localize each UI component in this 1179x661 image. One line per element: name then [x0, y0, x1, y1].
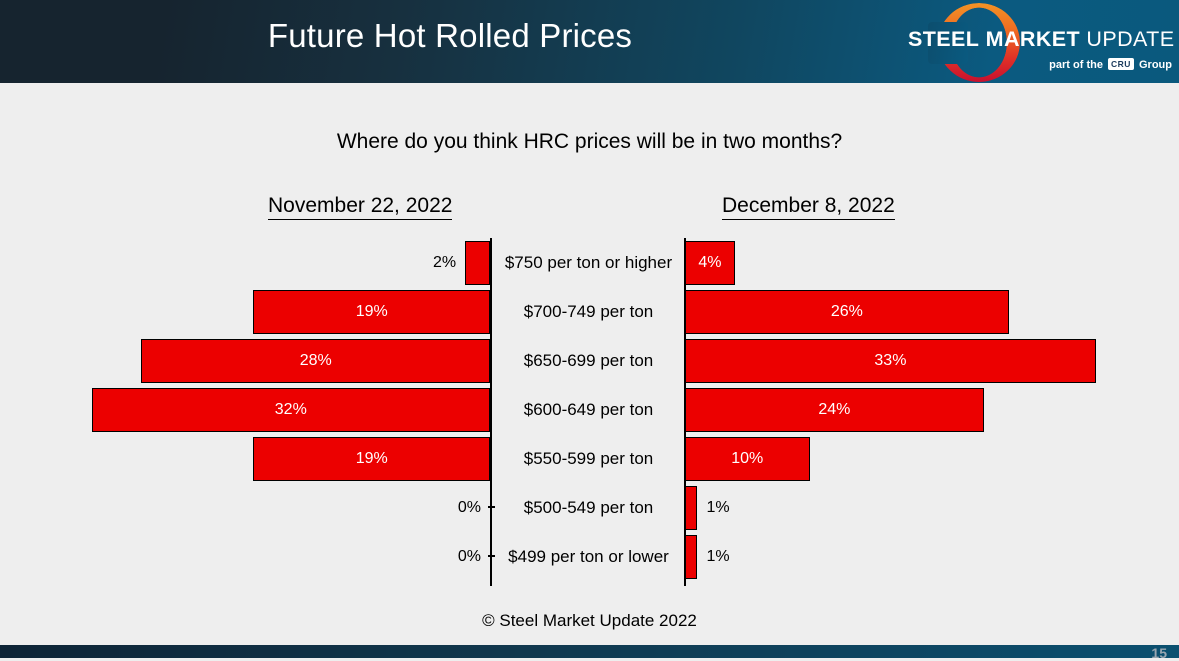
chart-row: 28%33%$650-699 per ton: [0, 336, 1179, 385]
chart-row: 19%26%$700-749 per ton: [0, 287, 1179, 336]
bar-value-label: 1%: [706, 535, 729, 579]
logo-sub-prefix: part of the: [1049, 59, 1103, 71]
category-label: $600-649 per ton: [493, 385, 684, 434]
logo-wordmark: STEEL MARKET UPDATE: [908, 28, 1172, 50]
bar-value-label: 0%: [458, 535, 481, 579]
footer-bar: 15: [0, 645, 1179, 658]
logo-subtitle: part of the CRU Group: [908, 58, 1172, 71]
bar-right: [685, 486, 697, 530]
logo-sub-suffix: Group: [1139, 59, 1172, 71]
bar-right: [685, 535, 697, 579]
bar-value-label: 19%: [253, 290, 490, 334]
copyright-text: © Steel Market Update 2022: [0, 611, 1179, 631]
category-label: $550-599 per ton: [493, 434, 684, 483]
logo-word-update: UPDATE: [1086, 27, 1174, 51]
chart-row: 19%10%$550-599 per ton: [0, 434, 1179, 483]
chart-row: 0%1%$499 per ton or lower: [0, 532, 1179, 581]
steel-market-update-logo: STEEL MARKET UPDATE part of the CRU Grou…: [900, 2, 1172, 82]
logo-word-steel: STEEL: [908, 27, 979, 51]
chart-row: 0%1%$500-549 per ton: [0, 483, 1179, 532]
category-label: $500-549 per ton: [493, 483, 684, 532]
category-label: $499 per ton or lower: [493, 532, 684, 581]
diverging-bar-chart: 2%4%$750 per ton or higher19%26%$700-749…: [0, 238, 1179, 593]
bar-value-label: 2%: [433, 241, 456, 285]
chart-row: 32%24%$600-649 per ton: [0, 385, 1179, 434]
bar-value-label: 26%: [685, 290, 1009, 334]
bar-value-label: 4%: [685, 241, 735, 285]
bar-value-label: 33%: [685, 339, 1096, 383]
chart-question: Where do you think HRC prices will be in…: [0, 130, 1179, 154]
bar-left: [465, 241, 490, 285]
category-label: $650-699 per ton: [493, 336, 684, 385]
logo-word-market: MARKET: [986, 27, 1080, 51]
bar-value-label: 0%: [458, 486, 481, 530]
series-heading-left: November 22, 2022: [268, 194, 452, 220]
bar-value-label: 24%: [685, 388, 984, 432]
category-label: $750 per ton or higher: [493, 238, 684, 287]
cru-badge: CRU: [1108, 58, 1134, 70]
category-label: $700-749 per ton: [493, 287, 684, 336]
slide-header: Future Hot Rolled Prices STEEL MARKET UP…: [0, 0, 1179, 83]
series-heading-right: December 8, 2022: [722, 194, 895, 220]
chart-row: 2%4%$750 per ton or higher: [0, 238, 1179, 287]
page-title: Future Hot Rolled Prices: [0, 17, 900, 55]
bar-value-label: 1%: [706, 486, 729, 530]
bar-value-label: 19%: [253, 437, 490, 481]
bar-value-label: 10%: [685, 437, 810, 481]
bar-value-label: 32%: [92, 388, 490, 432]
bar-value-label: 28%: [141, 339, 490, 383]
